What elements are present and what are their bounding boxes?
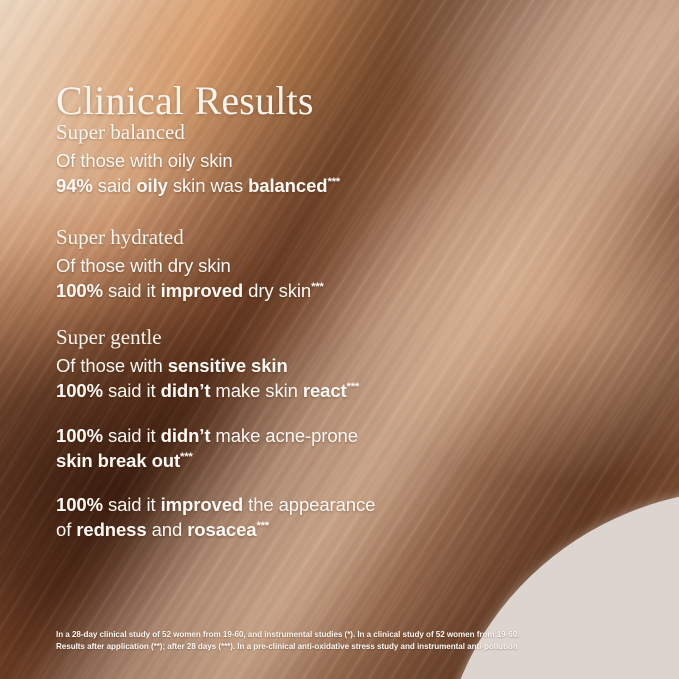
block-line: skin break out***	[56, 448, 358, 473]
content-area: Clinical Results Super balancedOf those …	[0, 0, 679, 679]
footnote-asterisks: ***	[180, 451, 193, 463]
block-line: 94% said oily skin was balanced***	[56, 173, 340, 198]
footnote-line-2: Results after application (**); after 28…	[56, 641, 640, 653]
emphasis-text: 94%	[56, 175, 93, 196]
block-line: 100% said it didn’t make skin react***	[56, 378, 359, 403]
footnote-line-1: In a 28-day clinical study of 52 women f…	[56, 629, 640, 641]
footnote-asterisks: ***	[327, 176, 340, 188]
clinical-results-card: Clinical Results Super balancedOf those …	[0, 0, 679, 679]
body-text: Of those with oily skin	[56, 150, 233, 171]
body-text: make skin	[210, 380, 302, 401]
block-line: 100% said it improved dry skin***	[56, 278, 324, 303]
result-block-super-hydrated: Super hydratedOf those with dry skin100%…	[56, 224, 324, 303]
block-line: 100% said it improved the appearance	[56, 492, 375, 517]
block-heading-super-hydrated: Super hydrated	[56, 224, 324, 250]
body-text: and	[147, 519, 188, 540]
emphasis-text: redness	[76, 519, 146, 540]
body-text: said it	[103, 425, 161, 446]
emphasis-text: rosacea	[187, 519, 256, 540]
footnote-asterisks: ***	[311, 281, 324, 293]
footnote-asterisks: ***	[256, 520, 269, 532]
body-text: the appearance	[243, 494, 375, 515]
emphasis-text: 100%	[56, 425, 103, 446]
footnote-asterisks: ***	[347, 381, 360, 393]
body-text: dry skin	[243, 280, 311, 301]
body-text: make acne-prone	[210, 425, 358, 446]
result-block-acne-prone: 100% said it didn’t make acne-proneskin …	[56, 423, 358, 473]
block-line: 100% said it didn’t make acne-prone	[56, 423, 358, 448]
emphasis-text: didn’t	[161, 380, 211, 401]
block-heading-super-gentle: Super gentle	[56, 324, 359, 350]
page-title: Clinical Results	[56, 79, 314, 123]
body-text: Of those with dry skin	[56, 255, 231, 276]
result-block-redness-rosacea: 100% said it improved the appearanceof r…	[56, 492, 375, 542]
block-line: Of those with sensitive skin	[56, 353, 359, 378]
body-text: said it	[103, 280, 161, 301]
block-heading-super-balanced: Super balanced	[56, 119, 340, 145]
emphasis-text: 100%	[56, 380, 103, 401]
body-text: said it	[103, 494, 161, 515]
block-line: of redness and rosacea***	[56, 517, 375, 542]
block-line: Of those with dry skin	[56, 253, 324, 278]
emphasis-text: skin break out	[56, 450, 180, 471]
emphasis-text: improved	[161, 494, 243, 515]
emphasis-text: improved	[161, 280, 243, 301]
body-text: said it	[103, 380, 161, 401]
emphasis-text: sensitive skin	[168, 355, 288, 376]
block-line: Of those with oily skin	[56, 148, 340, 173]
body-text: of	[56, 519, 76, 540]
emphasis-text: react	[303, 380, 347, 401]
emphasis-text: oily	[136, 175, 167, 196]
body-text: said	[93, 175, 137, 196]
emphasis-text: 100%	[56, 280, 103, 301]
result-block-super-gentle: Super gentleOf those with sensitive skin…	[56, 324, 359, 403]
result-block-super-balanced: Super balancedOf those with oily skin94%…	[56, 119, 340, 198]
footnote-disclaimer: In a 28-day clinical study of 52 women f…	[56, 629, 640, 653]
emphasis-text: 100%	[56, 494, 103, 515]
body-text: Of those with	[56, 355, 168, 376]
emphasis-text: didn’t	[161, 425, 211, 446]
emphasis-text: balanced	[248, 175, 327, 196]
body-text: skin was	[168, 175, 248, 196]
